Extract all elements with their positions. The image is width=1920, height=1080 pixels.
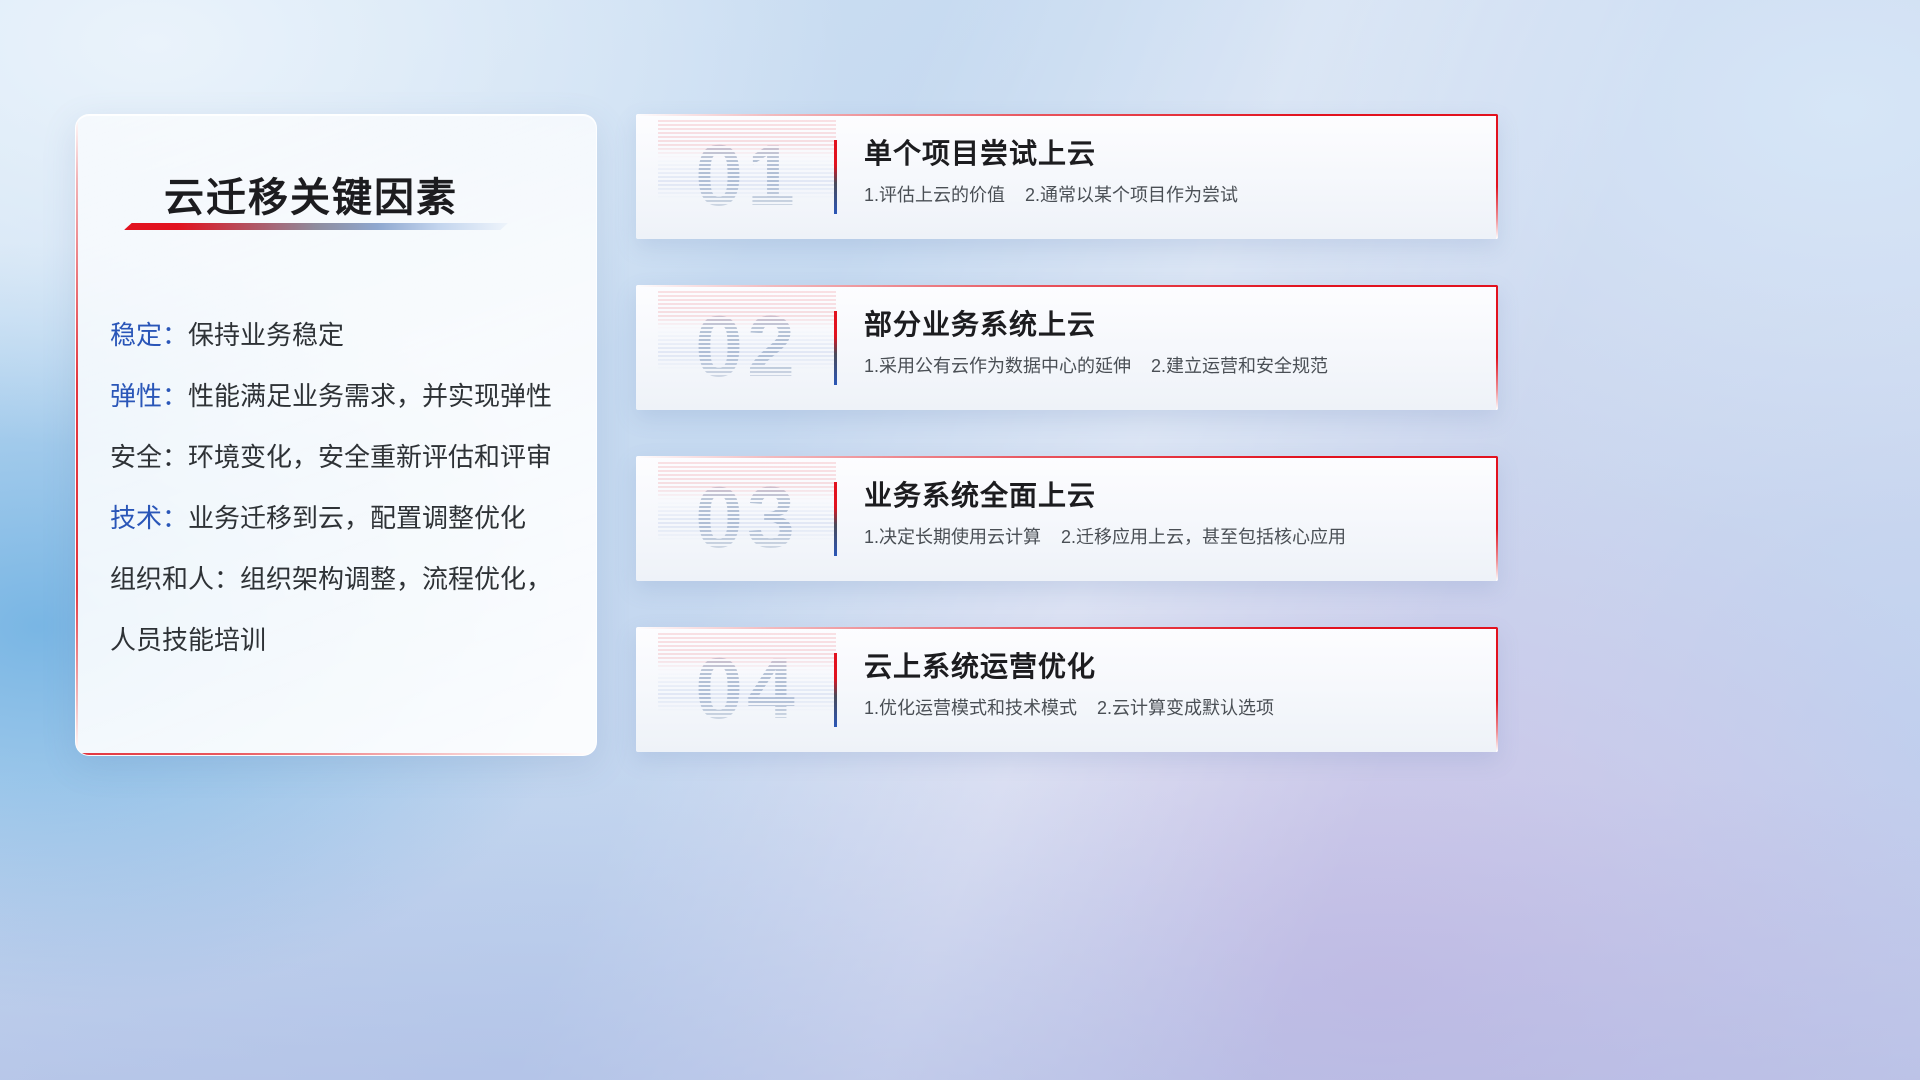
stage-number-02-icon: 02 xyxy=(658,291,836,403)
stage-number-01-icon: 01 xyxy=(658,120,836,232)
stage-divider-bar xyxy=(834,653,837,727)
key-factor-item: 弹性：性能满足业务需求，并实现弹性 xyxy=(106,366,572,427)
stage-description: 1.优化运营模式和技术模式 2.云计算变成默认选项 xyxy=(864,691,1470,725)
stage-description: 1.采用公有云作为数据中心的延伸 2.建立运营和安全规范 xyxy=(864,349,1470,383)
stage-description: 1.评估上云的价值 2.通常以某个项目作为尝试 xyxy=(864,178,1470,212)
key-factor-value: 业务迁移到云，配置调整优化 xyxy=(188,503,526,533)
stage-divider-bar xyxy=(834,482,837,556)
stage-divider-bar xyxy=(834,140,837,214)
key-factor-value: 人员技能培训 xyxy=(110,625,266,655)
key-factor-value: 保持业务稳定 xyxy=(188,320,344,350)
stage-card-04[interactable]: 04 云上系统运营优化 1.优化运营模式和技术模式 2.云计算变成默认选项 xyxy=(636,627,1498,752)
panel-title: 云迁移关键因素 xyxy=(164,165,458,223)
key-factor-label: 弹性： xyxy=(110,381,188,411)
key-factor-value: 环境变化，安全重新评估和评审 xyxy=(188,442,552,472)
key-factor-label: 组织和人： xyxy=(110,564,240,594)
key-factor-item: 人员技能培训 xyxy=(106,610,572,671)
background-bottom-gradient xyxy=(0,780,1920,1080)
key-factor-item: 稳定：保持业务稳定 xyxy=(106,305,572,366)
key-factor-label: 稳定： xyxy=(110,320,188,350)
stage-title: 单个项目尝试上云 xyxy=(864,134,1470,174)
stage-description: 1.决定长期使用云计算 2.迁移应用上云，甚至包括核心应用 xyxy=(864,520,1470,554)
key-factor-value: 性能满足业务需求，并实现弹性 xyxy=(188,381,552,411)
key-factor-value: 组织架构调整，流程优化， xyxy=(240,564,552,594)
stage-card-03[interactable]: 03 业务系统全面上云 1.决定长期使用云计算 2.迁移应用上云，甚至包括核心应… xyxy=(636,456,1498,581)
stage-title: 业务系统全面上云 xyxy=(864,476,1470,516)
key-factors-panel: 云迁移关键因素 稳定：保持业务稳定弹性：性能满足业务需求，并实现弹性安全：环境变… xyxy=(75,114,597,756)
key-factor-item: 组织和人：组织架构调整，流程优化， xyxy=(106,549,572,610)
stage-text-block: 部分业务系统上云 1.采用公有云作为数据中心的延伸 2.建立运营和安全规范 xyxy=(864,305,1470,383)
key-factors-list: 稳定：保持业务稳定弹性：性能满足业务需求，并实现弹性安全：环境变化，安全重新评估… xyxy=(106,305,572,671)
key-factor-item: 安全：环境变化，安全重新评估和评审 xyxy=(106,427,572,488)
key-factor-label: 技术： xyxy=(110,503,188,533)
key-factor-item: 技术：业务迁移到云，配置调整优化 xyxy=(106,488,572,549)
stage-text-block: 业务系统全面上云 1.决定长期使用云计算 2.迁移应用上云，甚至包括核心应用 xyxy=(864,476,1470,554)
title-underline-rule xyxy=(124,223,508,230)
stage-text-block: 云上系统运营优化 1.优化运营模式和技术模式 2.云计算变成默认选项 xyxy=(864,647,1470,725)
key-factor-label: 安全： xyxy=(110,442,188,472)
stage-title: 云上系统运营优化 xyxy=(864,647,1470,687)
stage-card-02[interactable]: 02 部分业务系统上云 1.采用公有云作为数据中心的延伸 2.建立运营和安全规范 xyxy=(636,285,1498,410)
stage-number-04-icon: 04 xyxy=(658,633,836,745)
stage-text-block: 单个项目尝试上云 1.评估上云的价值 2.通常以某个项目作为尝试 xyxy=(864,134,1470,212)
stage-divider-bar xyxy=(834,311,837,385)
stage-card-01[interactable]: 01 单个项目尝试上云 1.评估上云的价值 2.通常以某个项目作为尝试 xyxy=(636,114,1498,239)
stage-title: 部分业务系统上云 xyxy=(864,305,1470,345)
stage-number-03-icon: 03 xyxy=(658,462,836,574)
